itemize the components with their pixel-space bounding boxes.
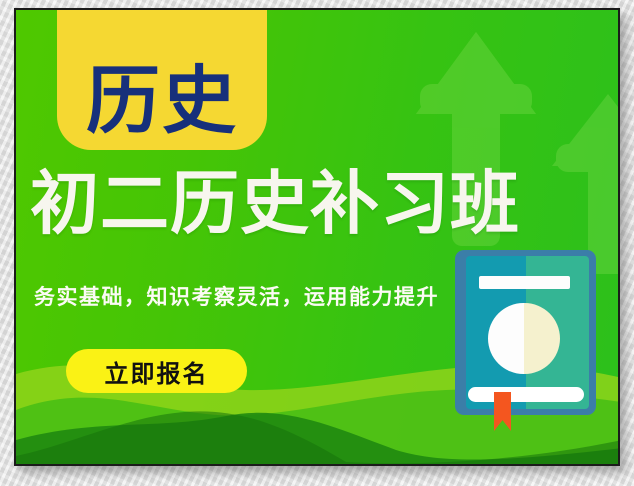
book-band-top [479,276,570,289]
page-title: 初二历史补习班 [30,168,610,240]
subtitle-text: 务实基础，知识考察灵活，运用能力提升 [34,281,439,311]
page-background: 历史 初二历史补习班 务实基础，知识考察灵活，运用能力提升 立即报名 [0,0,634,486]
subject-badge: 历史 [57,8,267,150]
subject-badge-label: 历史 [86,64,238,138]
book-band-bottom [468,387,584,402]
book-icon [455,250,596,415]
enroll-now-button[interactable]: 立即报名 [66,349,247,393]
promo-banner: 历史 初二历史补习班 务实基础，知识考察灵活，运用能力提升 立即报名 [14,8,620,466]
enroll-now-label: 立即报名 [105,354,209,389]
